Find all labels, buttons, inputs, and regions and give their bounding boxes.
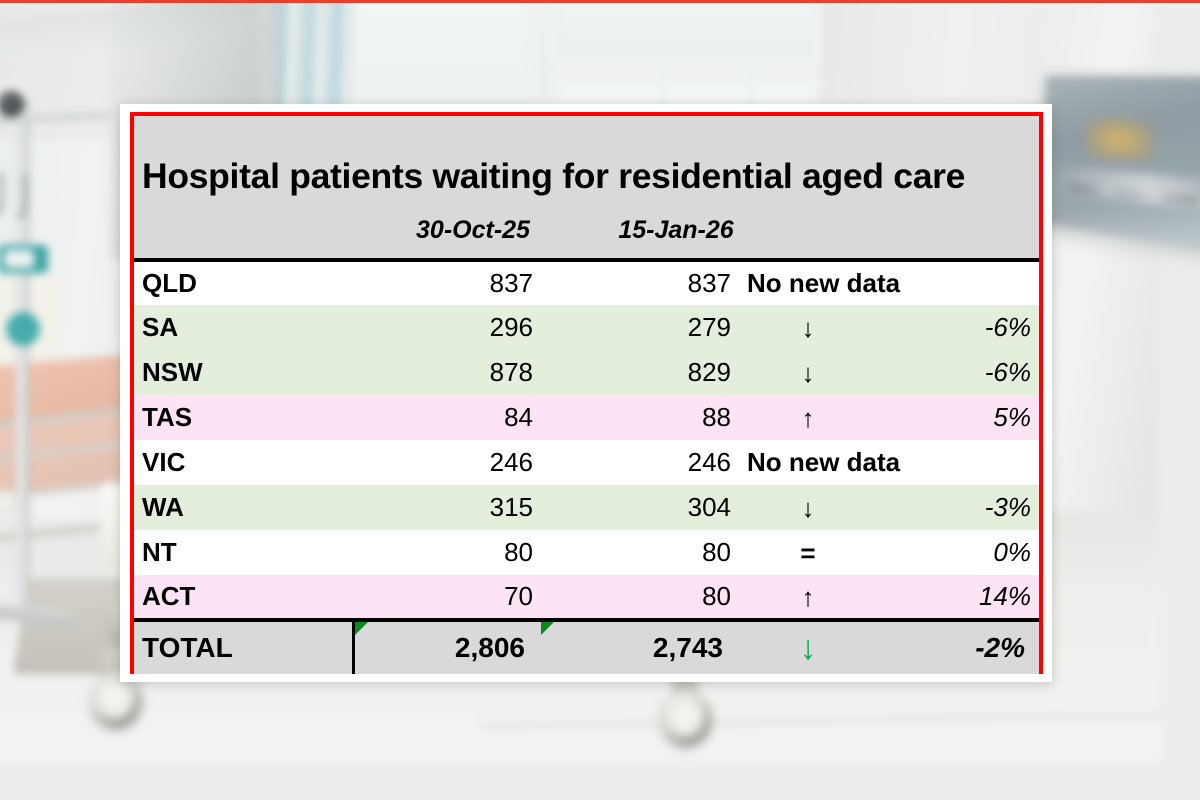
row-state-label: ACT bbox=[134, 575, 353, 620]
trend-down-icon: ↓ bbox=[739, 305, 877, 350]
row-value-date2: 246 bbox=[541, 440, 739, 485]
row-value-date2: 80 bbox=[541, 575, 739, 620]
row-value-date1: 878 bbox=[353, 350, 541, 395]
total-value-date1: 2,806 bbox=[353, 620, 541, 674]
row-value-date1: 84 bbox=[353, 395, 541, 440]
table-row[interactable]: VIC 246 246 No new data bbox=[134, 440, 1039, 485]
window-upper-right bbox=[552, 0, 820, 65]
tv-screen-reflection bbox=[1047, 165, 1200, 214]
cell-flag-triangle-icon bbox=[355, 622, 368, 635]
total-label: TOTAL bbox=[134, 620, 353, 674]
total-value-date2: 2,743 bbox=[541, 620, 739, 674]
iv-hook-2 bbox=[0, 172, 3, 216]
row-value-date2: 829 bbox=[541, 350, 739, 395]
row-note: No new data bbox=[739, 440, 1039, 485]
total-trend-down-icon: ↓ bbox=[739, 620, 877, 674]
row-change-percent: 0% bbox=[877, 530, 1039, 575]
row-value-date2: 80 bbox=[541, 530, 739, 575]
row-change-percent: -3% bbox=[877, 485, 1039, 530]
wall-outlet bbox=[0, 490, 14, 514]
row-value-date2: 837 bbox=[541, 260, 739, 305]
stats-card: Hospital patients waiting for residentia… bbox=[120, 104, 1052, 682]
row-value-date1: 70 bbox=[353, 575, 541, 620]
iv-valve bbox=[6, 312, 40, 346]
row-value-date2: 304 bbox=[541, 485, 739, 530]
bed-caster-right bbox=[660, 690, 712, 746]
trend-flat-icon: = bbox=[739, 530, 877, 575]
table-body: QLD 837 837 No new data SA 296 279 ↓ -6%… bbox=[134, 260, 1039, 674]
row-change-percent: 5% bbox=[877, 395, 1039, 440]
table-total-row[interactable]: TOTAL 2,806 2,743 ↓ -2% bbox=[134, 620, 1039, 674]
table-row[interactable]: QLD 837 837 No new data bbox=[134, 260, 1039, 305]
tv-screen-glow bbox=[1085, 117, 1153, 164]
column-header-date2: 15-Jan-26 bbox=[586, 216, 766, 245]
row-state-label: NT bbox=[134, 530, 353, 575]
table-row[interactable]: WA 315 304 ↓ -3% bbox=[134, 485, 1039, 530]
total-value-date1-text: 2,806 bbox=[455, 632, 525, 663]
page-title: Hospital patients waiting for residentia… bbox=[142, 156, 1022, 197]
cell-flag-triangle-icon bbox=[541, 622, 554, 635]
table-row[interactable]: SA 296 279 ↓ -6% bbox=[134, 305, 1039, 350]
trend-up-icon: ↑ bbox=[739, 395, 877, 440]
row-state-label: QLD bbox=[134, 260, 353, 305]
row-value-date1: 315 bbox=[353, 485, 541, 530]
table-row[interactable]: NT 80 80 = 0% bbox=[134, 530, 1039, 575]
row-value-date1: 80 bbox=[353, 530, 541, 575]
row-state-label: NSW bbox=[134, 350, 353, 395]
row-state-label: TAS bbox=[134, 395, 353, 440]
row-value-date1: 296 bbox=[353, 305, 541, 350]
trend-up-icon: ↑ bbox=[739, 575, 877, 620]
row-state-label: VIC bbox=[134, 440, 353, 485]
total-value-date2-text: 2,743 bbox=[653, 632, 723, 663]
row-value-date1: 246 bbox=[353, 440, 541, 485]
top-red-rule bbox=[0, 0, 1200, 3]
row-value-date2: 279 bbox=[541, 305, 739, 350]
wall-mounted-tv bbox=[1045, 75, 1200, 254]
row-change-percent: 14% bbox=[877, 575, 1039, 620]
row-note: No new data bbox=[739, 260, 1039, 305]
aged-care-waiting-table: Hospital patients waiting for residentia… bbox=[134, 116, 1039, 674]
trend-down-icon: ↓ bbox=[739, 350, 877, 395]
table-row[interactable]: TAS 84 88 ↑ 5% bbox=[134, 395, 1039, 440]
total-change-percent: -2% bbox=[877, 620, 1039, 674]
table-row[interactable]: NSW 878 829 ↓ -6% bbox=[134, 350, 1039, 395]
stats-card-border: Hospital patients waiting for residentia… bbox=[130, 112, 1043, 674]
iv-clamp-insert bbox=[4, 250, 34, 268]
iv-hook-3 bbox=[18, 174, 27, 218]
title-band: Hospital patients waiting for residentia… bbox=[134, 116, 1039, 260]
row-value-date2: 88 bbox=[541, 395, 739, 440]
table-row[interactable]: ACT 70 80 ↑ 14% bbox=[134, 575, 1039, 620]
row-value-date1: 837 bbox=[353, 260, 541, 305]
column-header-date1: 30-Oct-25 bbox=[383, 216, 563, 245]
caster-hub bbox=[672, 702, 700, 734]
row-state-label: SA bbox=[134, 305, 353, 350]
row-change-percent: -6% bbox=[877, 305, 1039, 350]
caster-hub bbox=[102, 684, 130, 716]
table-title-row: Hospital patients waiting for residentia… bbox=[134, 116, 1039, 260]
row-state-label: WA bbox=[134, 485, 353, 530]
trend-down-icon: ↓ bbox=[739, 485, 877, 530]
row-change-percent: -6% bbox=[877, 350, 1039, 395]
